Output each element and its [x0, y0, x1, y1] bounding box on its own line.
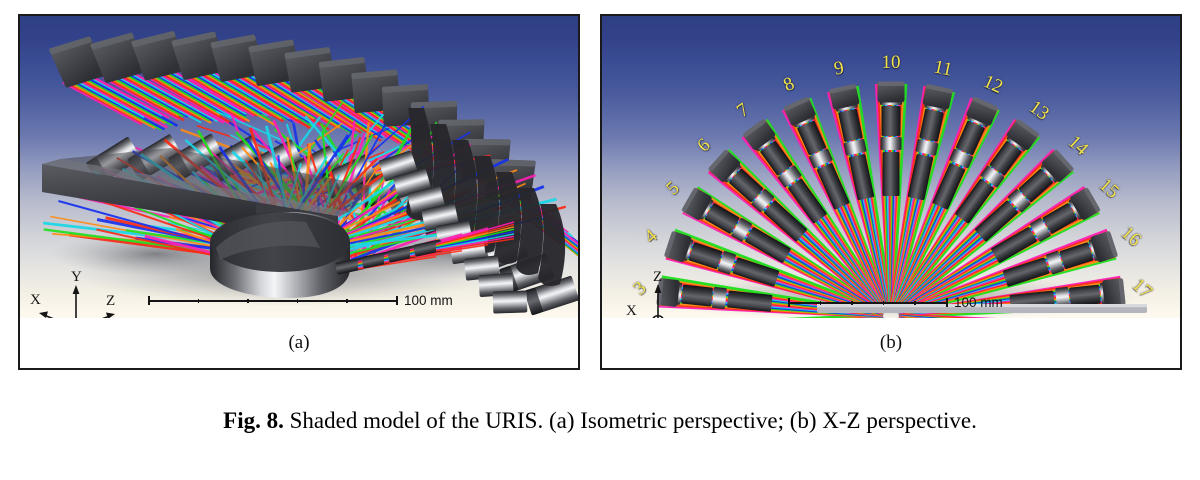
axis-label-y-a: Y [71, 269, 82, 285]
module-number-11: 11 [931, 56, 956, 79]
axis-label-z-a: Z [106, 293, 115, 309]
panel-b-sublabel: (b) [602, 332, 1180, 354]
figure-caption: Fig. 8. Shaded model of the URIS. (a) Is… [0, 408, 1200, 434]
panel-b: 12345678910111213141516171819 Z X Y [600, 14, 1182, 370]
module-number-9: 9 [826, 56, 851, 79]
panel-a-caption-area: (a) [20, 318, 578, 368]
caption-text: Shaded model of the URIS. (a) Isometric … [284, 408, 977, 433]
axis-label-x-b: X [626, 303, 637, 319]
axis-triad-b: Z X Y [612, 274, 704, 320]
panel-b-scene: 12345678910111213141516171819 Z X Y [602, 16, 1180, 320]
axis-triad-a: Y X Z [30, 271, 122, 320]
scalebar-a-label: 100 mm [404, 293, 453, 308]
axis-label-z-b: Z [653, 269, 662, 285]
panel-a-scene: Y X Z 100 mm [20, 16, 578, 320]
axis-label-x-a: X [30, 292, 41, 308]
panel-a: Y X Z 100 mm (a) [18, 14, 580, 370]
scalebar-b: 100 mm [788, 295, 1003, 310]
module-number-10: 10 [880, 53, 902, 72]
panel-b-caption-area: (b) [602, 318, 1180, 368]
figure-root: Y X Z 100 mm (a) [0, 0, 1200, 480]
caption-label: Fig. 8. [223, 408, 284, 433]
scalebar-b-label: 100 mm [954, 295, 1003, 310]
scalebar-a: 100 mm [148, 293, 453, 308]
panel-a-sublabel: (a) [20, 332, 578, 354]
